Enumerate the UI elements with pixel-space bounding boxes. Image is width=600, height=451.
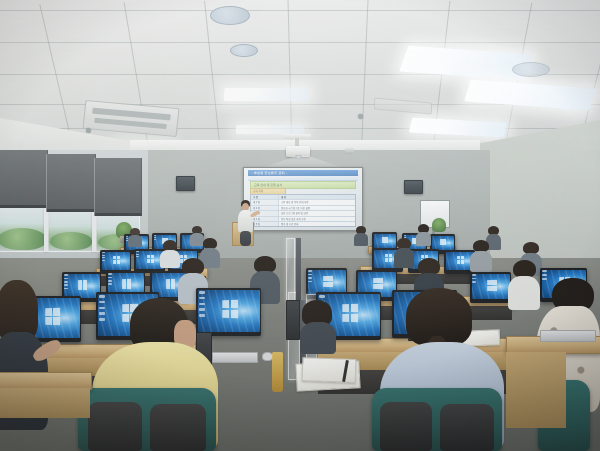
table-cell: 실습 프로그램 설치 및 실행	[279, 211, 355, 215]
windows-logo-icon	[78, 280, 87, 290]
window-blind[interactable]	[46, 154, 96, 212]
windows-logo-icon	[113, 256, 120, 264]
table-cell: 평가 및 수료 안내	[279, 222, 355, 226]
ceiling-diffuser	[512, 62, 550, 77]
outdoor-foliage	[0, 228, 46, 250]
desktop-icons	[64, 274, 68, 297]
table-header-cell: 내 용	[279, 195, 355, 199]
ceiling-camera-icon	[345, 148, 354, 154]
table-cell: 문서 작성 실습 과제 수행	[279, 217, 355, 221]
pc-tower	[286, 300, 300, 340]
table-cell: 정보화 시스템 기초 이론 설명	[279, 206, 355, 210]
desktop-icons	[136, 251, 139, 268]
left-wall-speaker	[176, 176, 195, 191]
keyboard[interactable]	[540, 330, 596, 342]
task-chair[interactable]	[372, 388, 502, 451]
windows-logo-icon	[147, 255, 154, 263]
chair-cushion	[440, 404, 494, 451]
windows-logo-icon	[223, 300, 239, 318]
student-torso	[160, 250, 180, 268]
instructor	[236, 200, 256, 246]
monitor	[100, 250, 131, 274]
ceiling-light-panel	[464, 80, 596, 111]
desktop-icons	[102, 252, 105, 269]
window-blind[interactable]	[94, 158, 142, 216]
windows-logo-icon	[323, 276, 333, 287]
student	[354, 226, 368, 246]
ceiling-light-panel	[236, 125, 304, 134]
windows-logo-icon	[122, 279, 131, 289]
chair-cushion	[150, 404, 206, 451]
desktop-icons	[154, 235, 156, 248]
student	[300, 300, 336, 354]
keyboard[interactable]	[212, 352, 258, 363]
table-row: 제 5 장 평가 및 수료 안내	[251, 222, 355, 226]
ac-cassette-unit	[82, 100, 179, 137]
ceiling-light-panel	[399, 46, 533, 81]
windows-logo-icon	[343, 304, 359, 322]
slide-table: 구 분 내 용 제 1 장 교육 개요 및 목적 안내 사항 제 2 장 정보화…	[250, 194, 356, 227]
task-chair[interactable]	[78, 388, 216, 451]
right-wall-speaker	[404, 180, 423, 194]
student	[470, 240, 492, 272]
student-torso	[416, 232, 431, 246]
classroom-photo: – 参加者 安全教育 資料 – 교육 안내 및 진행 순서 교육 목차 구 분 …	[0, 0, 600, 451]
windows-logo-icon	[385, 254, 392, 262]
projected-slide: – 参加者 安全教育 資料 – 교육 안내 및 진행 순서 교육 목차 구 분 …	[244, 168, 362, 230]
student-torso	[128, 235, 142, 247]
potted-plant	[432, 218, 446, 232]
table-cell: 교육 개요 및 목적 안내 사항	[279, 200, 355, 204]
ceiling-light-panel	[224, 88, 309, 101]
desktop-icons	[308, 270, 312, 294]
student-torso	[300, 322, 336, 354]
ceiling-diffuser	[230, 44, 258, 57]
outdoor-foliage	[50, 232, 92, 250]
window-blind[interactable]	[0, 150, 48, 208]
chair-cushion	[88, 402, 142, 451]
student-torso	[394, 248, 414, 268]
projection-screen: – 参加者 安全教育 資料 – 교육 안내 및 진행 순서 교육 목차 구 분 …	[243, 167, 363, 231]
table-header-cell: 구 분	[251, 195, 279, 199]
chair-cushion	[380, 402, 432, 451]
student	[160, 240, 180, 268]
windows-logo-icon	[457, 256, 464, 264]
instructor-legs	[240, 231, 251, 246]
ceiling-light-panel	[409, 117, 507, 137]
ceiling-air-vent	[374, 97, 432, 114]
desk-front-panel	[0, 388, 90, 418]
windows-logo-icon	[382, 237, 388, 243]
student	[128, 228, 142, 246]
ceiling-diffuser	[210, 6, 250, 25]
student	[416, 224, 431, 246]
windows-logo-icon	[440, 239, 446, 245]
student-torso	[354, 233, 368, 246]
sprinkler-head	[358, 114, 363, 119]
windows-logo-icon	[373, 278, 383, 289]
drink-bottle[interactable]	[272, 352, 283, 392]
windows-logo-icon	[166, 279, 175, 289]
sprinkler-head	[86, 128, 91, 133]
student-torso	[470, 251, 492, 272]
student	[394, 238, 414, 268]
desk-front-panel	[506, 352, 566, 428]
